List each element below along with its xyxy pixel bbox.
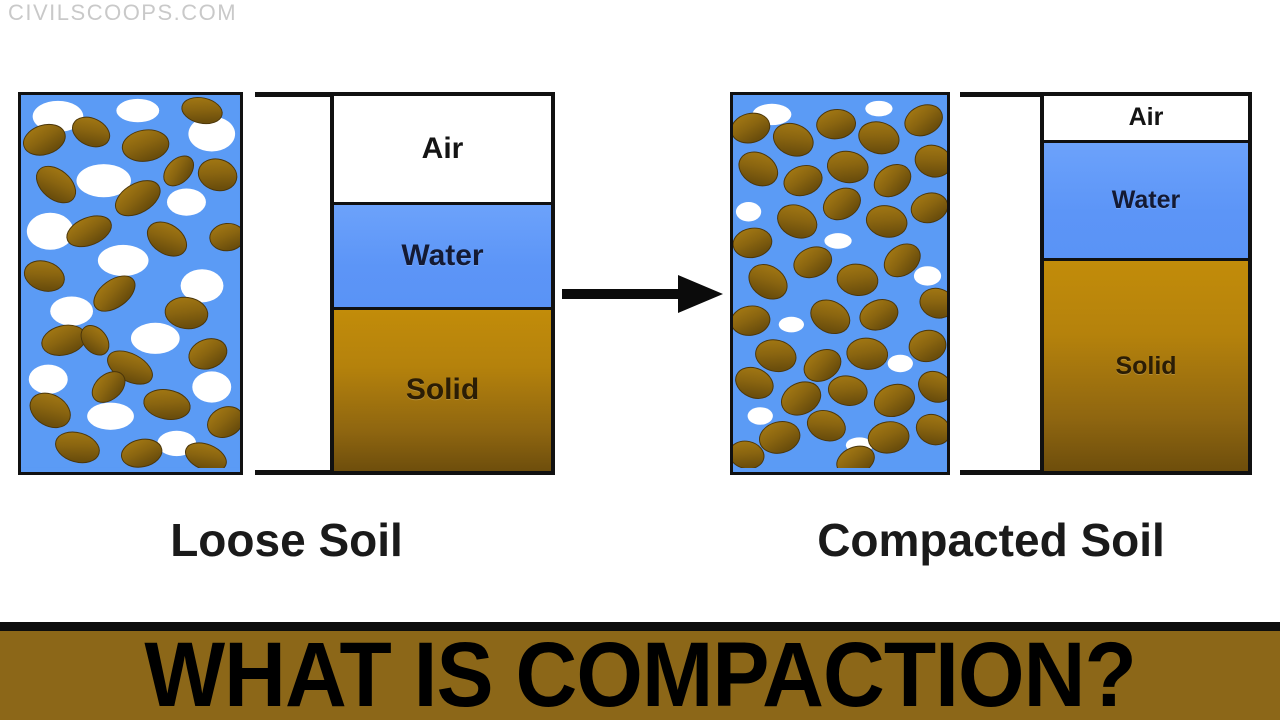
compacted-soil-caption: Compacted Soil xyxy=(730,513,1252,567)
banner-title: WHAT IS COMPACTION? xyxy=(144,632,1136,719)
loose-phase-water: Water xyxy=(334,205,551,310)
loose-phase-solid-label: Solid xyxy=(406,373,479,407)
compaction-arrow xyxy=(560,272,725,316)
loose-soil-specimen xyxy=(18,92,243,475)
compacted-phase-solid-label: Solid xyxy=(1115,352,1176,381)
compaction-diagram-page: CIVILSCOOPS.COM xyxy=(0,0,1280,720)
loose-phase-air-label: Air xyxy=(422,132,464,166)
compacted-phase-water: Water xyxy=(1044,143,1248,261)
compacted-phase-solid: Solid xyxy=(1044,261,1248,471)
loose-phase-water-label: Water xyxy=(401,239,483,273)
compacted-phase-column: Air Water Solid xyxy=(1040,92,1252,475)
loose-soil-texture xyxy=(21,95,240,468)
compacted-phase-air: Air xyxy=(1044,96,1248,143)
loose-phase-solid: Solid xyxy=(334,310,551,471)
compacted-soil-texture xyxy=(733,95,947,468)
site-watermark: CIVILSCOOPS.COM xyxy=(8,0,237,26)
loose-phase-air: Air xyxy=(334,96,551,205)
compacted-phase-water-label: Water xyxy=(1112,186,1181,215)
compacted-soil-specimen xyxy=(730,92,950,475)
compacted-phase-air-label: Air xyxy=(1129,103,1164,132)
bottom-banner: WHAT IS COMPACTION? xyxy=(0,622,1280,720)
loose-soil-caption: Loose Soil xyxy=(18,513,555,567)
loose-phase-column: Air Water Solid xyxy=(330,92,555,475)
